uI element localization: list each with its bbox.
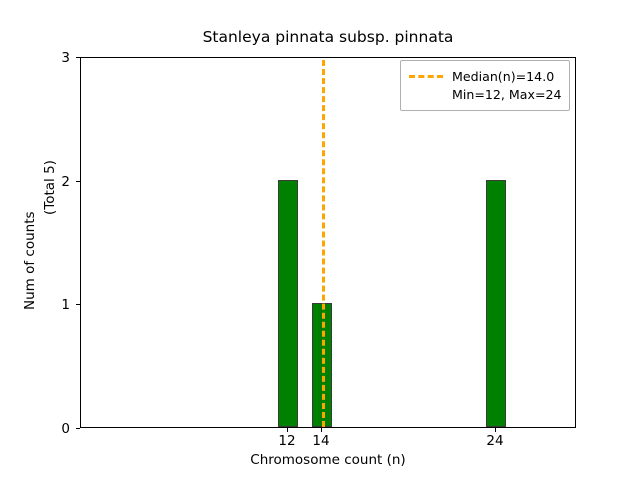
bar-chromosome-24: [486, 180, 506, 427]
x-tick-label-14: 14: [301, 433, 341, 449]
bar-chromosome-12: [278, 180, 298, 427]
median-vline: [322, 60, 325, 427]
x-tick-mark-24: [495, 428, 496, 432]
chart-title: Stanleya pinnata subsp. pinnata: [80, 28, 576, 46]
y-axis-label: Num of counts: [22, 211, 38, 310]
x-tick-mark-12: [287, 428, 288, 432]
x-axis-label: Chromosome count (n): [80, 452, 576, 468]
chart-figure: Stanleya pinnata subsp. pinnata Num of c…: [0, 0, 640, 480]
y-tick-label-2: 2: [30, 174, 70, 190]
legend-row-median: Median(n)=14.0: [409, 67, 561, 85]
y-tick-label-0: 0: [30, 421, 70, 437]
legend-label-median: Median(n)=14.0: [452, 69, 554, 84]
y-tick-mark-0: [76, 428, 80, 429]
legend-row-minmax: Min=12, Max=24: [409, 85, 561, 103]
y-tick-label-1: 1: [30, 297, 70, 313]
y-tick-label-3: 3: [30, 50, 70, 66]
legend-label-minmax: Min=12, Max=24: [452, 87, 562, 102]
dashed-line-icon: [409, 75, 443, 78]
x-tick-mark-14: [321, 428, 322, 432]
plot-area: [80, 57, 576, 428]
legend: Median(n)=14.0 Min=12, Max=24: [400, 60, 570, 111]
x-tick-label-24: 24: [475, 433, 515, 449]
